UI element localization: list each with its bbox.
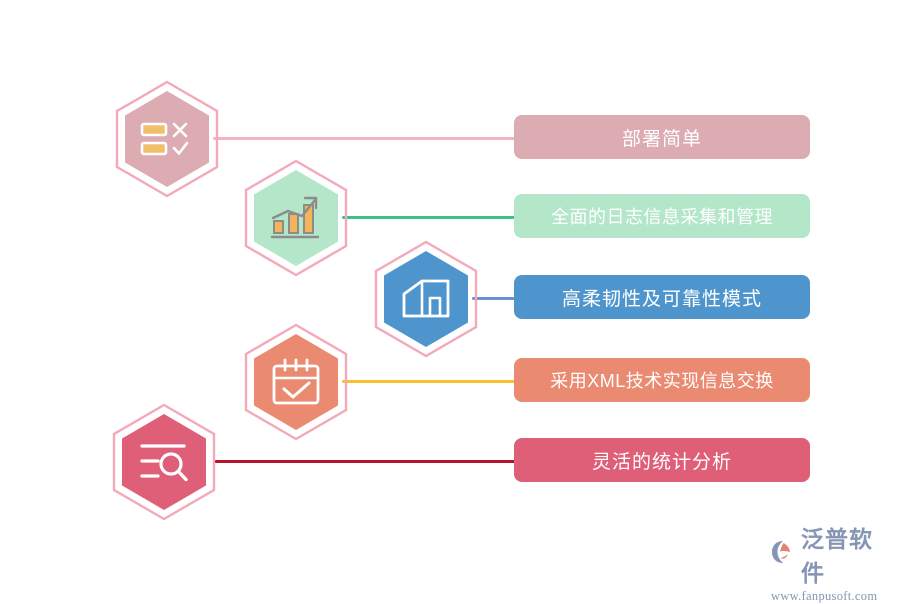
hex-node-1[interactable] — [114, 80, 220, 198]
label-pill-1[interactable]: 部署简单 — [514, 115, 810, 159]
watermark-url: www.fanpusoft.com — [771, 589, 877, 604]
hex-node-4[interactable] — [243, 323, 349, 441]
label-text-2: 全面的日志信息采集和管理 — [551, 203, 773, 229]
calendar-check-icon — [243, 323, 349, 441]
infographic-canvas: 部署简单 全面的日志信息采集和管理 高柔韧性及可靠性模式 采用XML技术实现信息… — [0, 0, 900, 600]
connector-line-5 — [213, 460, 520, 463]
watermark-logo: 泛普软件 www.fanpusoft.com — [770, 533, 892, 591]
hex-node-5[interactable] — [111, 403, 217, 521]
label-pill-4[interactable]: 采用XML技术实现信息交换 — [514, 358, 810, 402]
document-search-icon — [111, 403, 217, 521]
connector-line-2 — [342, 216, 520, 219]
label-text-3: 高柔韧性及可靠性模式 — [562, 284, 762, 311]
connector-line-4 — [342, 380, 520, 383]
label-pill-3[interactable]: 高柔韧性及可靠性模式 — [514, 275, 810, 319]
connector-line-1 — [213, 137, 520, 140]
fanpu-swirl-logo — [770, 539, 797, 570]
hex-node-2[interactable] — [243, 159, 349, 277]
warehouse-building-icon — [373, 240, 479, 358]
watermark-brand-row: 泛普软件 — [770, 520, 892, 588]
label-pill-2[interactable]: 全面的日志信息采集和管理 — [514, 194, 810, 238]
label-text-1: 部署简单 — [622, 124, 702, 151]
hex-node-3[interactable] — [373, 240, 479, 358]
watermark-brand-name: 泛普软件 — [801, 520, 892, 588]
label-text-4: 采用XML技术实现信息交换 — [550, 367, 774, 393]
checklist-icon — [114, 80, 220, 198]
bar-chart-growth-icon — [243, 159, 349, 277]
label-text-5: 灵活的统计分析 — [592, 447, 732, 474]
connector-line-3 — [472, 297, 520, 300]
label-pill-5[interactable]: 灵活的统计分析 — [514, 438, 810, 482]
